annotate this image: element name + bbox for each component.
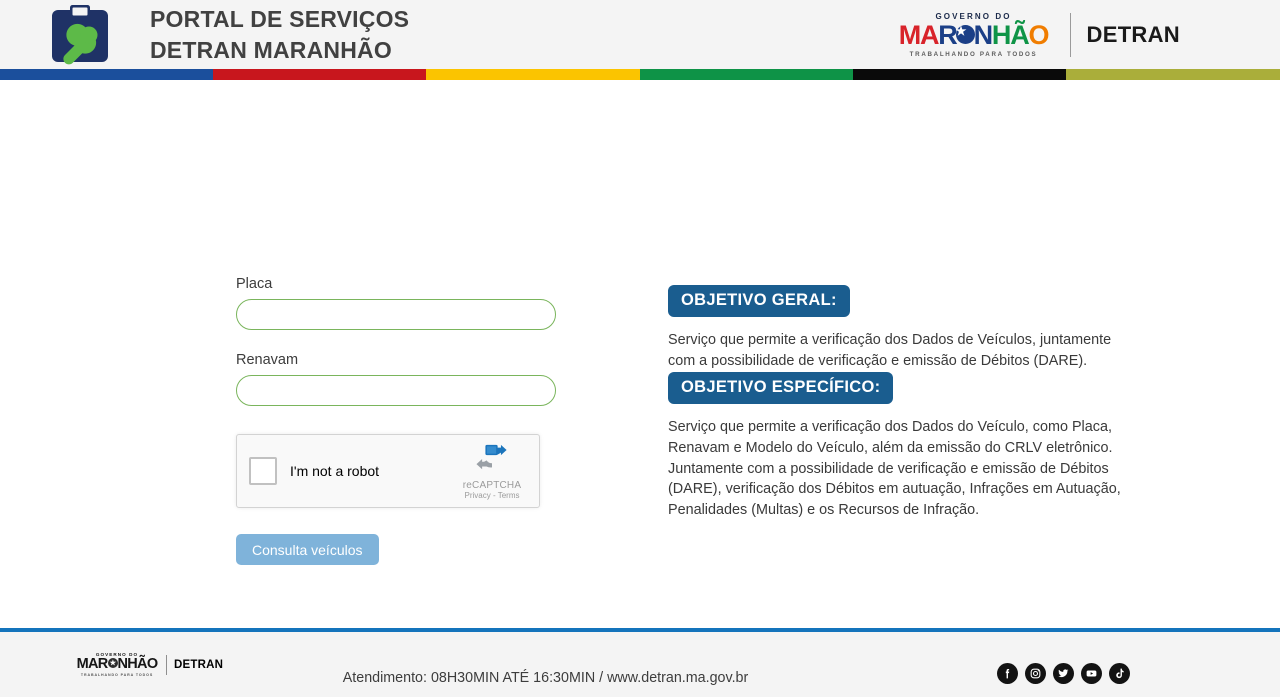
footer-gov-logo: GOVERNO DO MAR★NHÃO TRABALHANDO PARA TOD…: [74, 652, 160, 677]
objetivo-geral-text: Serviço que permite a verificação dos Da…: [668, 330, 1138, 372]
brand-right: GOVERNO DO MAR★NHÃO TRABALHANDO PARA TOD…: [888, 0, 1280, 69]
logo-divider: [1070, 13, 1071, 57]
youtube-icon[interactable]: [1081, 663, 1102, 684]
objetivo-geral-section: OBJETIVO GERAL: Serviço que permite a ve…: [668, 285, 1138, 372]
main-content: Placa Renavam I'm not a robot: [0, 80, 1280, 639]
color-segment-yellow: [426, 69, 640, 80]
recaptcha-widget[interactable]: I'm not a robot reCAPTCHA Privacy - Term…: [236, 434, 540, 508]
brand-left: PORTAL DE SERVIÇOS DETRAN MARANHÃO: [0, 4, 409, 66]
color-segment-black: [853, 69, 1066, 80]
objetivo-especifico-section: OBJETIVO ESPECÍFICO: Serviço que permite…: [668, 372, 1138, 521]
footer-gov-bottom-text: TRABALHANDO PARA TODOS: [81, 673, 153, 677]
color-segment-blue: [0, 69, 213, 80]
objetivo-geral-badge: OBJETIVO GERAL:: [668, 285, 850, 317]
recaptcha-terms-link[interactable]: Privacy - Terms: [454, 491, 530, 500]
consulta-veiculos-button[interactable]: Consulta veículos: [236, 534, 379, 565]
renavam-label: Renavam: [236, 352, 556, 368]
attendance-info: Atendimento: 08H30MIN ATÉ 16:30MIN / www…: [224, 670, 997, 686]
footer-gov-wordmark: MAR★NHÃO: [77, 657, 158, 672]
color-segment-red: [213, 69, 426, 80]
instagram-icon[interactable]: [1025, 663, 1046, 684]
recaptcha-branding: reCAPTCHA Privacy - Terms: [454, 442, 530, 500]
footer-governo-detran-logo: GOVERNO DO MAR★NHÃO TRABALHANDO PARA TOD…: [74, 652, 224, 677]
site-header: PORTAL DE SERVIÇOS DETRAN MARANHÃO GOVER…: [0, 0, 1280, 69]
placa-input[interactable]: [236, 299, 556, 330]
twitter-icon[interactable]: [1053, 663, 1074, 684]
site-footer: GOVERNO DO MAR★NHÃO TRABALHANDO PARA TOD…: [0, 628, 1280, 697]
objetivo-especifico-badge: OBJETIVO ESPECÍFICO:: [668, 372, 893, 404]
recaptcha-label: I'm not a robot: [290, 463, 379, 479]
social-links: [997, 663, 1130, 684]
footer-detran-wordmark: DETRAN: [174, 659, 223, 671]
vehicle-query-form: Placa Renavam I'm not a robot: [236, 276, 556, 565]
renavam-input[interactable]: [236, 375, 556, 406]
objetivo-especifico-text: Serviço que permite a verificação dos Da…: [668, 417, 1138, 521]
gov-logo-bottom-text: TRABALHANDO PARA TODOS: [910, 51, 1038, 58]
color-segment-green: [640, 69, 853, 80]
gov-logo-wordmark: MAR★NHÃO: [899, 22, 1049, 49]
recaptcha-brand-name: reCAPTCHA: [454, 480, 530, 491]
footer-logo-divider: [166, 655, 167, 675]
page-title: PORTAL DE SERVIÇOS DETRAN MARANHÃO: [150, 4, 409, 65]
footer-star-icon: ★: [108, 658, 118, 668]
color-segment-olive: [1066, 69, 1280, 80]
color-strip: [0, 69, 1280, 80]
placa-label: Placa: [236, 276, 556, 292]
toolbox-wrench-icon: [48, 4, 116, 66]
recaptcha-checkbox[interactable]: [249, 457, 277, 485]
info-column: OBJETIVO GERAL: Serviço que permite a ve…: [668, 276, 1138, 521]
recaptcha-logo-icon: [454, 461, 530, 478]
governo-maranhao-logo: GOVERNO DO MAR★NHÃO TRABALHANDO PARA TOD…: [888, 12, 1060, 58]
detran-wordmark: DETRAN: [1087, 22, 1280, 48]
star-icon: ★: [956, 25, 975, 44]
tiktok-icon[interactable]: [1109, 663, 1130, 684]
field-spacer: [236, 330, 556, 352]
facebook-icon[interactable]: [997, 663, 1018, 684]
